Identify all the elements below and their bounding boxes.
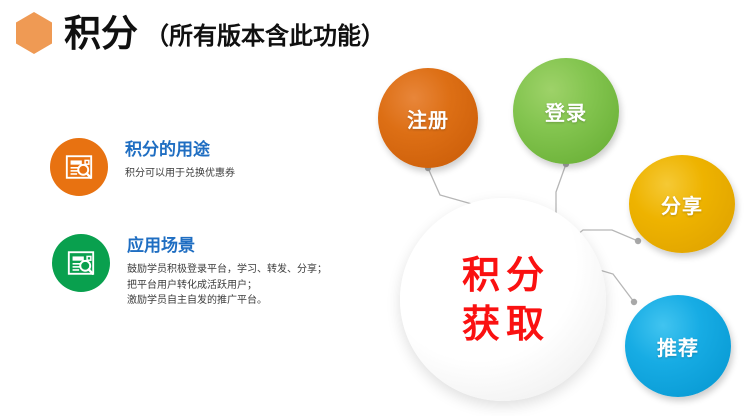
diagram-node-login[interactable]: 登录 [513,58,619,164]
feature-item-scenario: 应用场景 鼓励学员积极登录平台，学习、转发、分享； 把平台用户转化成活跃用户； … [52,234,327,309]
page-title-sub: （所有版本含此功能） [145,24,385,48]
feature-heading: 积分的用途 [125,140,235,161]
page-title: 积分 （所有版本含此功能） [16,10,385,56]
slide-canvas: 积分 （所有版本含此功能） 积分的用途 积分可以用于兑换优惠券 [0,0,750,416]
feature-description-line: 积分可以用于兑换优惠券 [125,166,235,182]
feature-description: 积分可以用于兑换优惠券 [125,166,235,182]
diagram-node-label: 分享 [661,190,703,219]
diagram-center-node[interactable]: 积分 获取 [400,198,606,401]
hexagon-bullet-icon [16,12,52,54]
diagram-node-register[interactable]: 注册 [378,68,478,168]
diagram-center-label-line1: 积分 [456,251,550,300]
feature-description: 鼓励学员积极登录平台，学习、转发、分享； 把平台用户转化成活跃用户； 激励学员自… [127,262,327,309]
diagram-node-label: 登录 [545,97,587,126]
diagram-node-share[interactable]: 分享 [629,155,735,253]
feature-text-block: 积分的用途 积分可以用于兑换优惠券 [125,138,235,182]
document-search-icon [50,138,108,196]
feature-text-block: 应用场景 鼓励学员积极登录平台，学习、转发、分享； 把平台用户转化成活跃用户； … [127,234,327,309]
diagram-center-label-line2: 获取 [456,300,550,349]
page-title-main: 积分 [64,15,138,52]
feature-description-line: 激励学员自主自发的推广平台。 [127,293,327,309]
document-search-icon [52,234,110,292]
feature-description-line: 把平台用户转化成活跃用户； [127,278,327,294]
feature-heading: 应用场景 [127,236,327,257]
feature-item-usage: 积分的用途 积分可以用于兑换优惠券 [50,138,235,196]
diagram-node-recommend[interactable]: 推荐 [625,295,731,397]
points-acquisition-diagram: 注册 登录 分享 推荐 积分 获取 [370,48,750,416]
diagram-node-label: 注册 [407,104,449,133]
feature-description-line: 鼓励学员积极登录平台，学习、转发、分享； [127,262,327,278]
diagram-node-label: 推荐 [657,332,699,361]
